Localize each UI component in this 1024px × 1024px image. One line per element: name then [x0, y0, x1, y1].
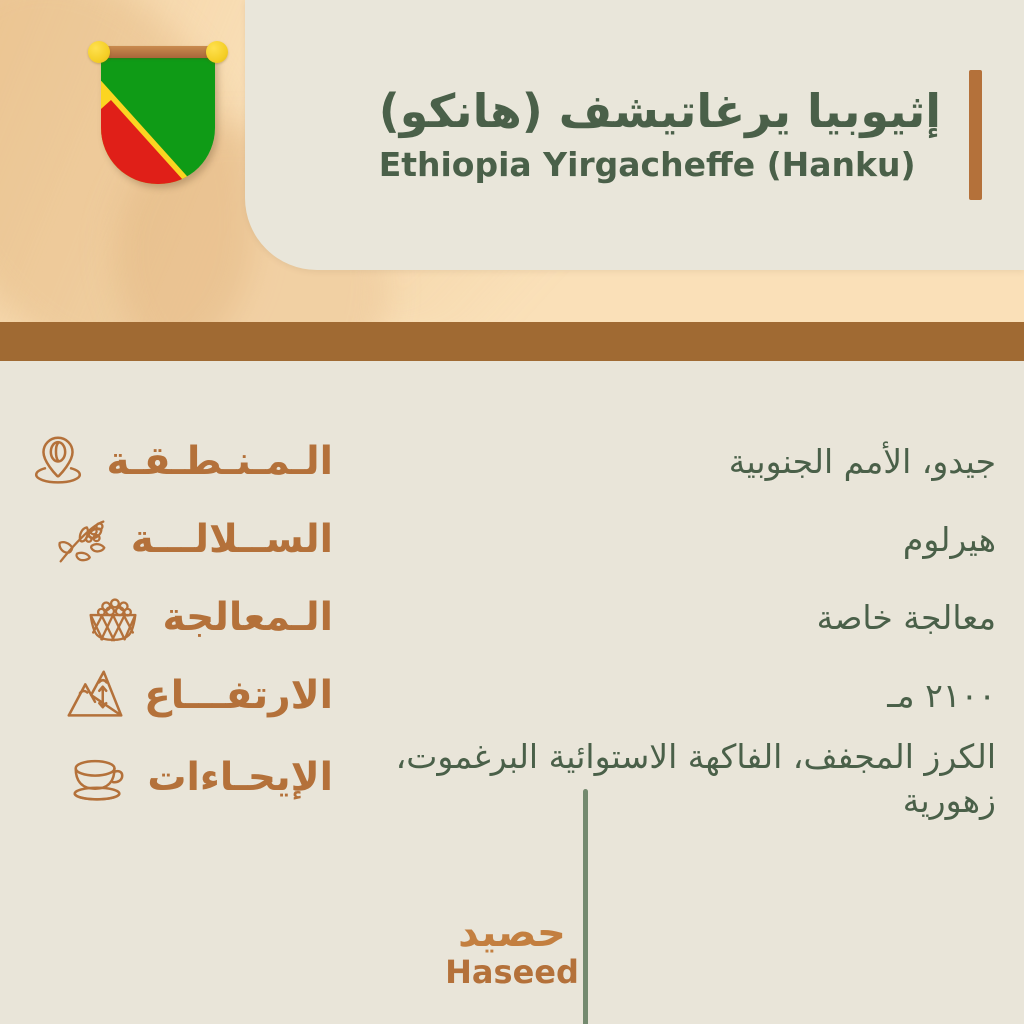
variety-value-cell: هيرلوم — [355, 518, 1024, 562]
divider-band — [0, 322, 1024, 361]
notes-label: الإيحـاءات — [147, 757, 333, 800]
coffee-cup-icon — [67, 748, 129, 810]
banner-knob-right — [206, 41, 228, 63]
header-background: إثيوبيا يرغاتيشف (هانكو) Ethiopia Yirgac… — [0, 0, 1024, 322]
variety-label-cell: الســلالـــة — [0, 509, 355, 571]
coffee-product-card: إثيوبيا يرغاتيشف (هانكو) Ethiopia Yirgac… — [0, 0, 1024, 1024]
process-label-cell: الـمعالجة — [0, 587, 355, 649]
mountain-altitude-icon — [64, 665, 126, 727]
banner-rod — [96, 46, 220, 58]
detail-rows: جيدو، الأمم الجنوبية الـمـنـطـقـة — [0, 423, 1024, 822]
title-arabic: إثيوبيا يرغاتيشف (هانكو) — [379, 83, 941, 141]
table-row: ٢١٠٠ مـ الارتفـــاع — [0, 657, 1024, 735]
table-row: معالجة خاصة الـمعالجة — [0, 579, 1024, 657]
variety-label: الســلالـــة — [131, 519, 333, 562]
altitude-label: الارتفـــاع — [144, 675, 333, 718]
title-accent-bar — [969, 70, 982, 200]
process-value: معالجة خاصة — [377, 596, 996, 640]
process-value-cell: معالجة خاصة — [355, 596, 1024, 640]
cherry-basket-icon — [82, 587, 144, 649]
region-value: جيدو، الأمم الجنوبية — [377, 440, 996, 484]
logo-english: Haseed — [445, 955, 579, 990]
banner-knob-left — [88, 41, 110, 63]
process-label: الـمعالجة — [162, 597, 333, 640]
notes-value-cell: الكرز المجفف، الفاكهة الاستوائية البرغمو… — [355, 735, 1024, 822]
region-label-cell: الـمـنـطـقـة — [0, 431, 355, 493]
coffee-branch-icon — [51, 509, 113, 571]
notes-label-cell: الإيحـاءات — [0, 748, 355, 810]
table-row: هيرلوم الســلالـــة — [0, 501, 1024, 579]
details-body: جيدو، الأمم الجنوبية الـمـنـطـقـة — [0, 361, 1024, 1024]
location-pin-bean-icon — [27, 431, 89, 493]
altitude-value: ٢١٠٠ مـ — [377, 674, 996, 718]
brand-logo: حصيد Haseed — [0, 913, 1024, 990]
notes-value: الكرز المجفف، الفاكهة الاستوائية البرغمو… — [377, 735, 996, 822]
table-row: جيدو، الأمم الجنوبية الـمـنـطـقـة — [0, 423, 1024, 501]
altitude-value-cell: ٢١٠٠ مـ — [355, 674, 1024, 718]
table-row: الكرز المجفف، الفاكهة الاستوائية البرغمو… — [0, 735, 1024, 822]
congo-flag-banner-icon — [88, 36, 228, 191]
variety-value: هيرلوم — [377, 518, 996, 562]
title-english: Ethiopia Yirgacheffe (Hanku) — [379, 144, 916, 187]
altitude-label-cell: الارتفـــاع — [0, 665, 355, 727]
page-title: إثيوبيا يرغاتيشف (هانكو) Ethiopia Yirgac… — [379, 83, 941, 187]
logo-arabic: حصيد — [458, 913, 566, 953]
region-value-cell: جيدو، الأمم الجنوبية — [355, 440, 1024, 484]
region-label: الـمـنـطـقـة — [107, 441, 333, 484]
header-panel: إثيوبيا يرغاتيشف (هانكو) Ethiopia Yirgac… — [245, 0, 1024, 270]
flag-body — [101, 54, 215, 184]
